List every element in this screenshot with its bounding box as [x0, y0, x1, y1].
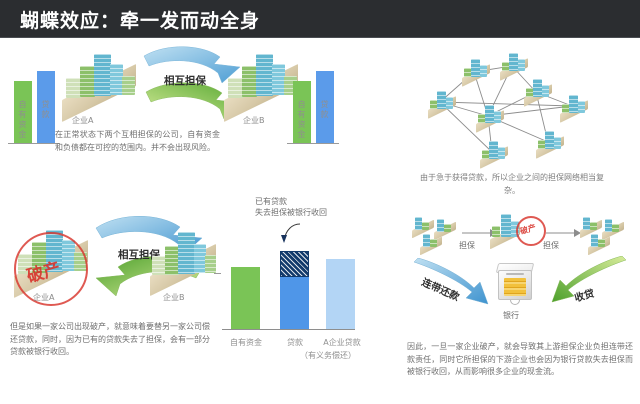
arrow-loan-recall: [548, 256, 630, 310]
label-company-a-bankrupt: 企业A: [33, 292, 54, 303]
node-tower: [471, 59, 480, 77]
cluster-block-1: [590, 222, 597, 230]
network-node-5: [560, 94, 590, 118]
node-block-2: [494, 111, 501, 123]
cluster-block-3: [598, 239, 605, 247]
bank-slot: [506, 273, 524, 275]
label-bank: 银行: [503, 310, 519, 321]
title-divider: [0, 37, 640, 38]
guarantee-network-diagram: [400, 44, 636, 172]
bar-label-loan: 贷款: [319, 100, 330, 120]
label-company-a-normal: 企业A: [72, 115, 93, 126]
cluster-block-3: [430, 239, 437, 247]
description-normal-state: 在正常状态下两个互相担保的公司，自有资金和负债都在可控的范围内。并不会出现风险。: [55, 129, 220, 154]
slide-canvas: 蝴蝶效应：牵一发而动全身 自有资金 贷款 企业A 相互担保: [0, 0, 640, 404]
node-block-2: [578, 101, 585, 113]
cluster-tower-1: [583, 217, 590, 230]
chart-bar-company-a-loan: [326, 259, 355, 329]
label-company-b-normal: 企业B: [243, 115, 265, 126]
cluster-block-2: [612, 224, 619, 232]
chart-label-own-funds: 自有资金: [218, 337, 274, 348]
cluster-tower-1: [415, 217, 422, 230]
bars-company-b-normal: 自有资金 贷款: [287, 50, 339, 190]
network-node-2: [500, 52, 530, 76]
node-tower: [437, 91, 446, 109]
cluster-tower-3: [423, 234, 430, 247]
page-title: 蝴蝶效应：牵一发而动全身: [20, 6, 260, 33]
chain-cluster-upstream: [412, 216, 460, 248]
chart-bar-own-funds: [231, 267, 260, 329]
chart-label-obligation: （有义务偿还）: [300, 350, 356, 361]
chain-label-guarantee-1: 担保: [459, 240, 475, 251]
bar-label-loan: 贷款: [40, 100, 51, 120]
chain-cluster-downstream: [580, 216, 628, 248]
caption-network: 由于急于获得贷款，所以企业之间的担保网络相当复杂。: [414, 172, 610, 197]
bar-baseline: [287, 143, 339, 144]
cluster-tower-1: [501, 214, 511, 237]
chart-annotation-line-1: 已有贷款: [255, 197, 287, 206]
bar-label-own-funds: 自有资金: [17, 100, 28, 140]
cluster-block-1: [422, 222, 429, 230]
node-block-2: [480, 65, 487, 77]
node-tower: [509, 53, 518, 71]
loan-breakdown-chart: 已有贷款 失去担保被银行收回 自有资金 贷款 A企业贷款 （有义务偿还）: [218, 196, 388, 366]
bank-handle: [510, 300, 520, 305]
building-tower: [94, 54, 111, 96]
chart-annotation-leader-line: [276, 222, 302, 244]
node-tower: [489, 141, 498, 159]
node-block-1: [482, 150, 489, 159]
building-block-4: [205, 255, 216, 273]
node-block-2: [498, 147, 505, 159]
cluster-tower-2: [437, 219, 444, 232]
chain-arrow-2: [546, 228, 582, 238]
node-block-2: [446, 97, 453, 109]
building-company-b-bankrupt-row: [148, 230, 218, 290]
bar-label-own-funds: 自有资金: [296, 100, 307, 140]
node-block-2: [554, 137, 561, 149]
node-block-1: [562, 104, 569, 113]
chart-x-axis: [222, 329, 355, 331]
building-block-2: [80, 66, 95, 97]
chart-label-loan: 贷款: [274, 337, 316, 348]
node-block-1: [478, 114, 485, 123]
node-block-1: [538, 140, 545, 149]
network-node-1: [462, 58, 492, 82]
bars-company-a-normal: 自有资金 贷款: [8, 50, 60, 190]
node-block-2: [518, 59, 525, 71]
building-block-4: [122, 76, 135, 95]
chart-bar-recalled-loan: [280, 251, 309, 277]
network-node-3: [524, 78, 554, 102]
cluster-block-2: [444, 224, 451, 232]
cluster-block-1: [492, 226, 500, 237]
building-block-2: [242, 66, 257, 97]
cluster-tower-2: [605, 219, 612, 232]
title-bar: 蝴蝶效应：牵一发而动全身: [0, 0, 640, 38]
node-tower: [569, 95, 578, 113]
building-company-a-normal: [60, 52, 138, 114]
node-tower: [485, 105, 494, 123]
node-block-1: [502, 62, 509, 71]
bank-coins: [504, 278, 526, 296]
arrow-label-mutual-guarantee-normal: 相互担保: [164, 73, 206, 88]
bar-baseline: [8, 143, 60, 144]
node-block-1: [464, 68, 471, 77]
node-block-2: [542, 85, 549, 97]
building-block-1: [152, 256, 166, 275]
building-tower: [256, 54, 273, 96]
node-tower: [545, 131, 554, 149]
chain-label-guarantee-2: 担保: [543, 240, 559, 251]
chart-y-tick: [214, 273, 221, 274]
network-node-8: [480, 140, 510, 164]
bank-icon: [494, 262, 538, 308]
building-block-2: [165, 246, 179, 275]
node-block-1: [526, 88, 533, 97]
cluster-tower-3: [591, 234, 598, 247]
node-block-1: [430, 100, 437, 109]
chart-label-company-a-loan: A企业贷款: [314, 337, 370, 348]
label-company-b-bankrupt-row: 企业B: [163, 292, 185, 303]
building-tower: [178, 232, 195, 274]
chart-annotation-line-2: 失去担保被银行收回: [255, 208, 327, 217]
network-node-4: [428, 90, 458, 114]
network-node-7: [536, 130, 566, 154]
node-tower: [533, 79, 542, 97]
description-chain-reaction: 因此，一旦一家企业破产，就会导致其上游担保企业负担连带还款责任，同时它所担保的下…: [407, 341, 633, 379]
network-node-6: [476, 104, 506, 128]
description-bankrupt-state: 但是如果一家公司出现破产，就意味着要替另一家公司偿还贷款，同时，因为已有的贷款失…: [10, 321, 210, 359]
chart-bar-loan: [280, 277, 309, 329]
